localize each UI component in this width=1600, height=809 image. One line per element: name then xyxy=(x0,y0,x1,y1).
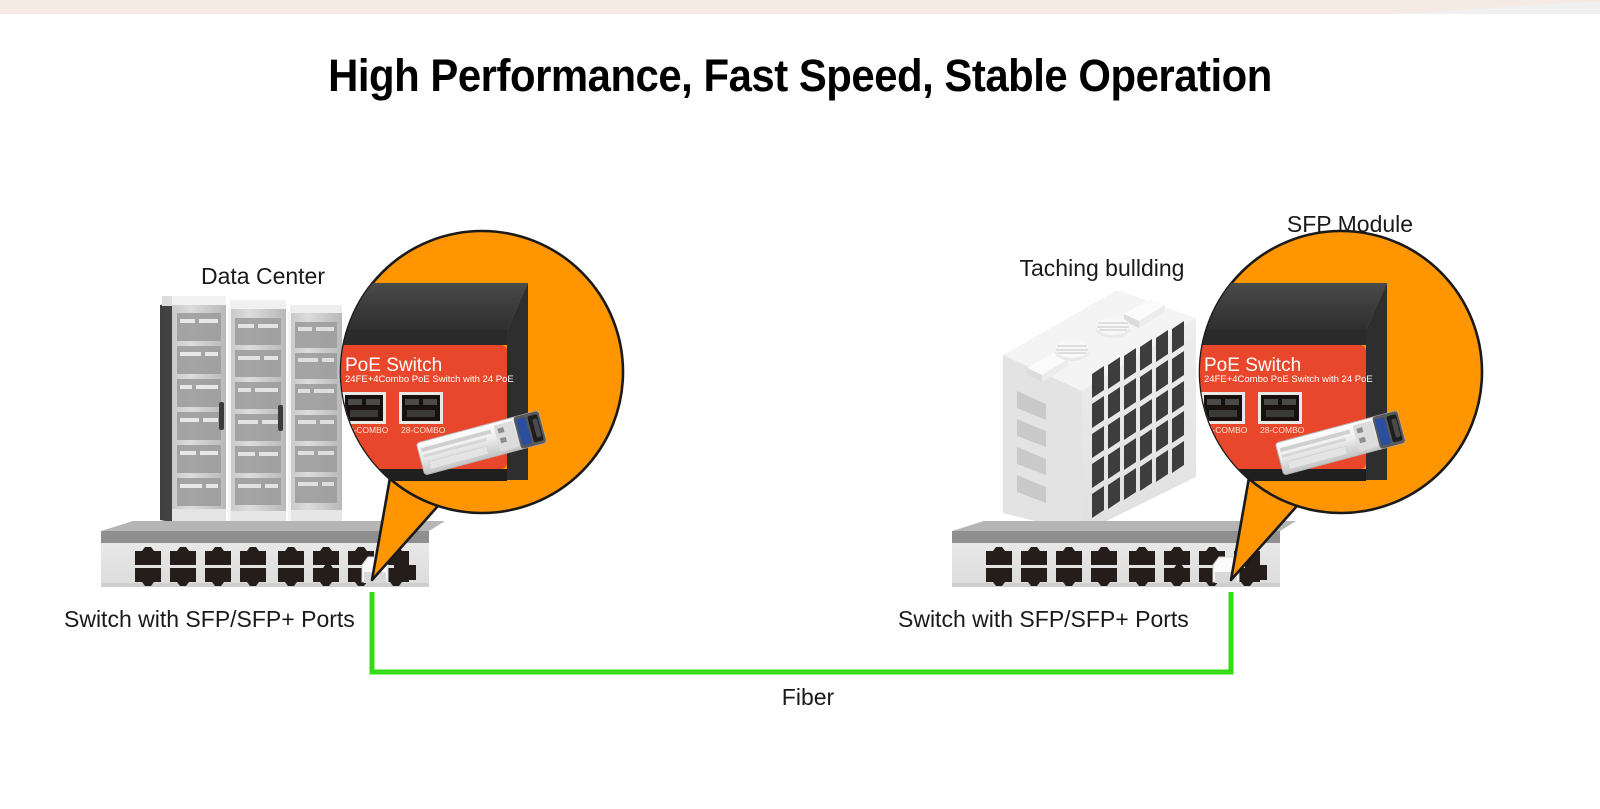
diagram-canvas: High Performance, Fast Speed, Stable Ope… xyxy=(0,0,1600,809)
server-rack xyxy=(288,305,342,526)
label-fiber: Fiber xyxy=(684,684,932,711)
callout-device-subtitle: 24FE+4Combo PoE Switch with 24 PoE xyxy=(1204,374,1373,385)
callout-device-subtitle: 24FE+4Combo PoE Switch with 24 PoE xyxy=(345,374,514,385)
label-sfp-module: SFP Module xyxy=(1230,211,1470,238)
switch-top-face xyxy=(1190,283,1387,330)
teaching-building xyxy=(1003,290,1196,533)
data-center-group xyxy=(160,296,342,530)
sfp-cage xyxy=(394,565,416,580)
callout-device-title: PoE Switch xyxy=(345,355,442,376)
roof-vent xyxy=(1096,317,1130,338)
server-rack xyxy=(160,296,226,530)
combo-port-cage xyxy=(399,392,443,424)
server-rack xyxy=(228,300,286,528)
combo-port-cage xyxy=(1258,392,1302,424)
label-teaching-building: Taching bullding xyxy=(982,255,1222,282)
roof-vent xyxy=(1055,340,1089,361)
sfp-cage xyxy=(1245,565,1267,580)
callout-port-label-2: 28-COMBO xyxy=(401,425,446,435)
callout-device-title: PoE Switch xyxy=(1204,355,1301,376)
callout-port-label-2: 28-COMBO xyxy=(1260,425,1305,435)
label-data-center: Data Center xyxy=(143,263,383,290)
label-switch-right: Switch with SFP/SFP+ Ports xyxy=(898,606,1189,633)
switch-top-face xyxy=(331,283,528,330)
label-switch-left: Switch with SFP/SFP+ Ports xyxy=(64,606,355,633)
